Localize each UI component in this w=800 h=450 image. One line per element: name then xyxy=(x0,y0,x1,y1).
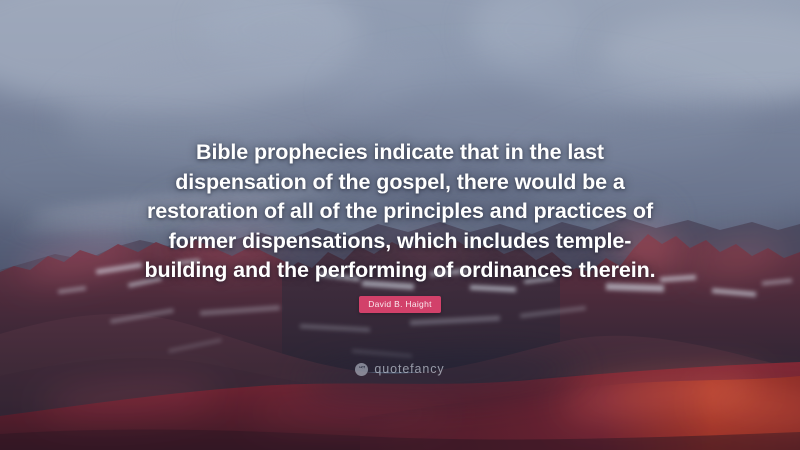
cloud-shape xyxy=(470,0,800,110)
quote-line: dispensation of the gospel, there would … xyxy=(0,168,800,198)
cloud-shape xyxy=(600,10,800,105)
author-attribution: David B. Haight xyxy=(0,294,800,313)
watermark[interactable]: “” quotefancy xyxy=(0,363,800,376)
quote-poster: Bible prophecies indicate that in the la… xyxy=(0,0,800,450)
quote-line: restoration of all of the principles and… xyxy=(0,197,800,227)
author-name-badge[interactable]: David B. Haight xyxy=(359,296,441,313)
quote-line: former dispensations, which includes tem… xyxy=(0,227,800,257)
quote-line: building and the performing of ordinance… xyxy=(0,256,800,286)
quote-line: Bible prophecies indicate that in the la… xyxy=(0,138,800,168)
quotefancy-logo-icon: “” xyxy=(355,363,368,376)
quote-marks-glyph: “” xyxy=(359,366,365,373)
watermark-brand-text: quotefancy xyxy=(374,363,444,376)
cloud-shape xyxy=(200,0,580,90)
cloud-shape xyxy=(0,0,360,110)
quote-text-block: Bible prophecies indicate that in the la… xyxy=(0,138,800,286)
